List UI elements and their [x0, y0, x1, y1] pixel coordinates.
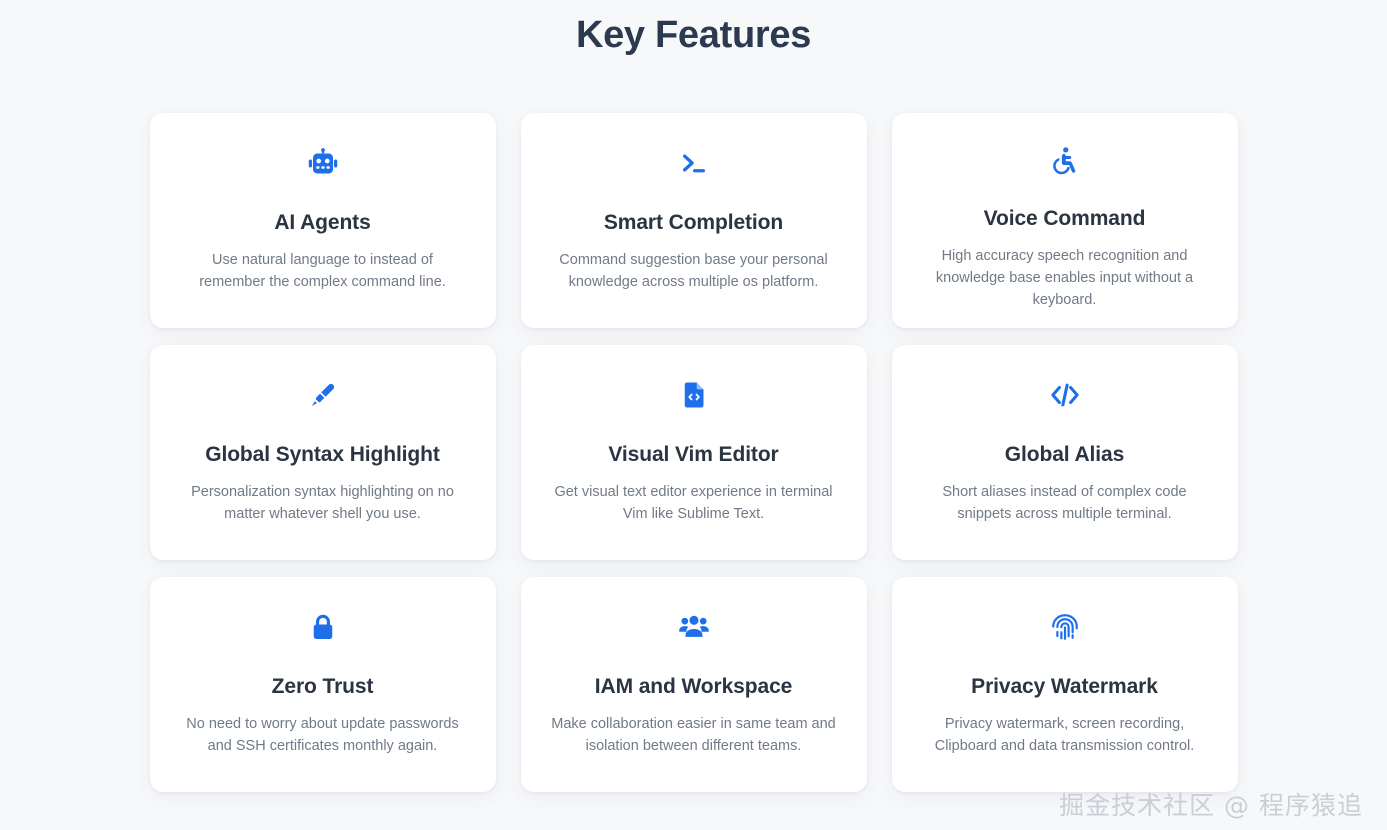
feature-title: Privacy Watermark [971, 673, 1158, 701]
feature-description: Make collaboration easier in same team a… [549, 713, 839, 757]
feature-card-zero-trust[interactable]: Zero Trust No need to worry about update… [150, 577, 496, 792]
page-title: Key Features [0, 8, 1387, 62]
feature-description: Short aliases instead of complex code sn… [920, 481, 1210, 525]
people-group-icon [677, 610, 711, 644]
feature-description: Use natural language to instead of remem… [178, 249, 468, 293]
feature-title: AI Agents [274, 209, 370, 237]
terminal-prompt-icon [677, 146, 711, 180]
feature-card-smart-completion[interactable]: Smart Completion Command suggestion base… [521, 113, 867, 328]
key-features-page: Key Features AI Agents Use natu [0, 0, 1387, 830]
feature-description: Get visual text editor experience in ter… [549, 481, 839, 525]
feature-description: Privacy watermark, screen recording, Cli… [920, 713, 1210, 757]
feature-cards-grid: AI Agents Use natural language to instea… [150, 113, 1238, 792]
feature-description: Command suggestion base your personal kn… [549, 249, 839, 293]
accessibility-wheelchair-icon [1048, 146, 1082, 176]
file-code-icon [677, 378, 711, 412]
robot-icon [306, 146, 340, 180]
fingerprint-icon [1048, 610, 1082, 644]
feature-card-voice-command[interactable]: Voice Command High accuracy speech recog… [892, 113, 1238, 328]
feature-card-global-syntax-highlight[interactable]: Global Syntax Highlight Personalization … [150, 345, 496, 560]
feature-title: IAM and Workspace [595, 673, 792, 701]
feature-title: Global Syntax Highlight [205, 441, 440, 469]
feature-description: No need to worry about update passwords … [178, 713, 468, 757]
feature-title: Smart Completion [604, 209, 783, 237]
lock-icon [306, 610, 340, 644]
feature-card-ai-agents[interactable]: AI Agents Use natural language to instea… [150, 113, 496, 328]
feature-title: Voice Command [984, 205, 1146, 233]
feature-card-global-alias[interactable]: Global Alias Short aliases instead of co… [892, 345, 1238, 560]
feature-title: Zero Trust [272, 673, 374, 701]
feature-card-privacy-watermark[interactable]: Privacy Watermark Privacy watermark, scr… [892, 577, 1238, 792]
feature-title: Global Alias [1005, 441, 1124, 469]
feature-card-visual-vim-editor[interactable]: Visual Vim Editor Get visual text editor… [521, 345, 867, 560]
feature-description: Personalization syntax highlighting on n… [178, 481, 468, 525]
feature-description: High accuracy speech recognition and kno… [920, 245, 1210, 311]
code-brackets-icon [1048, 378, 1082, 412]
feature-title: Visual Vim Editor [608, 441, 778, 469]
feature-card-iam-and-workspace[interactable]: IAM and Workspace Make collaboration eas… [521, 577, 867, 792]
site-watermark: 掘金技术社区 @ 程序猿追 [1059, 786, 1363, 822]
highlighter-pen-icon [306, 378, 340, 412]
